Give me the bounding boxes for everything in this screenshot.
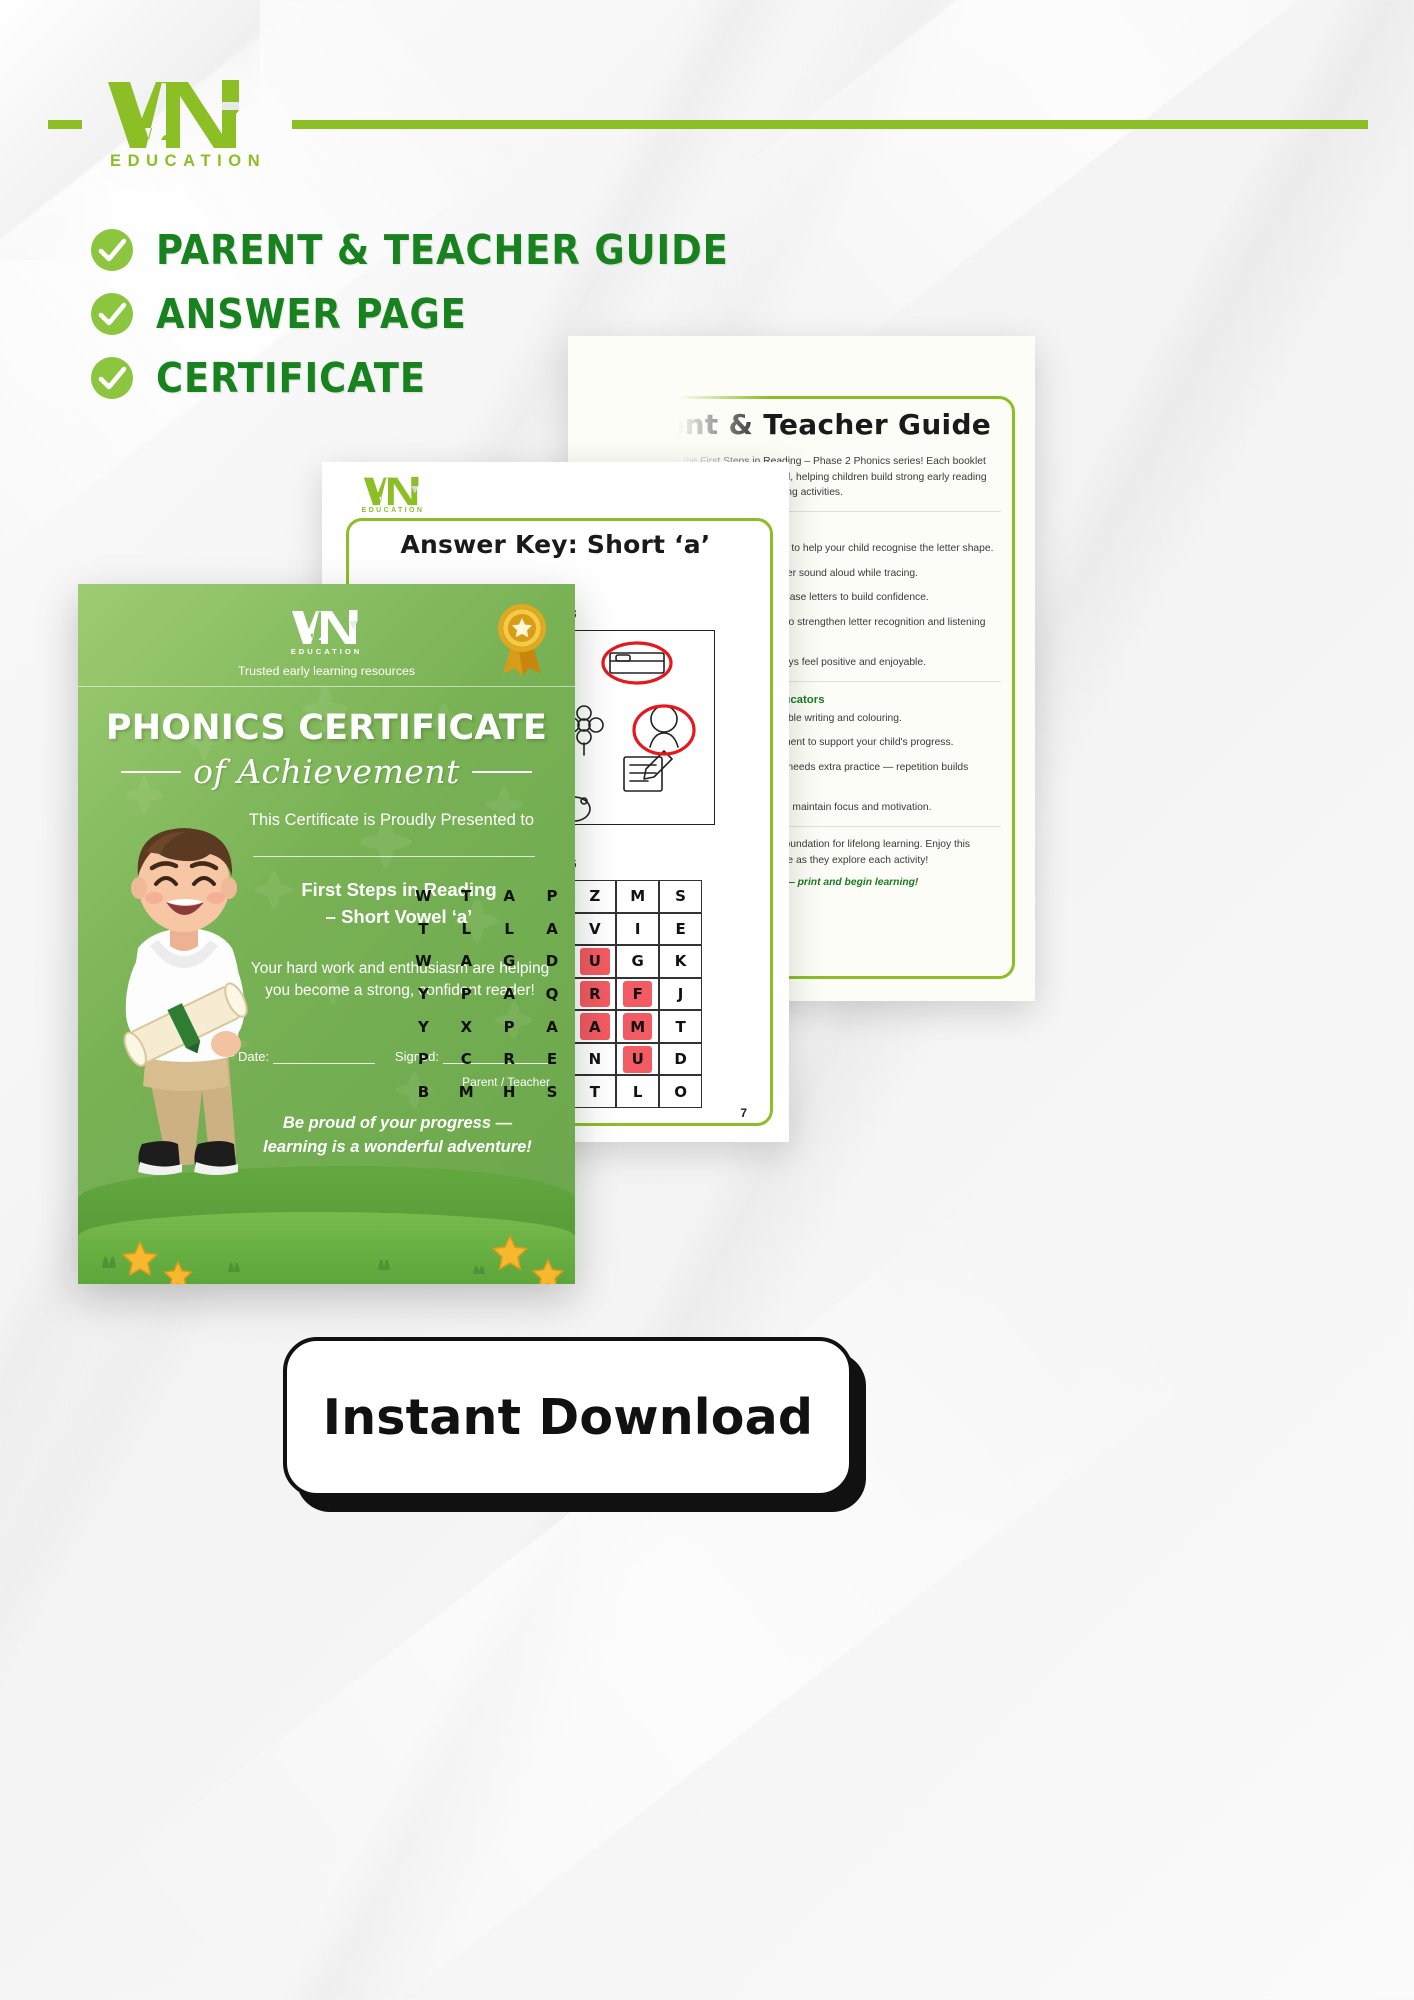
vn-monogram-icon <box>104 78 252 150</box>
wordsearch-cell: J <box>659 978 702 1011</box>
wordsearch-cell: S <box>659 880 702 913</box>
certificate-subtitle-row: of Achievement <box>78 752 575 791</box>
wordsearch-cell: R <box>573 978 616 1011</box>
feature-label: CERTIFICATE <box>156 358 426 399</box>
wordsearch-cell: T <box>659 1010 702 1043</box>
answer-circle <box>603 643 671 683</box>
brand-logo: EDUCATION <box>104 78 266 171</box>
course-line-2: – Short Vowel ‘a’ <box>326 906 473 927</box>
subtitle-dash-right <box>472 771 532 773</box>
vn-monogram-icon <box>290 608 364 646</box>
wordsearch-cell: O <box>659 1075 702 1108</box>
wordsearch-cell: U <box>616 1043 659 1076</box>
footer-line-2: learning is a wonderful adventure! <box>263 1138 532 1156</box>
feature-label: ANSWER PAGE <box>156 294 467 335</box>
wordsearch-cell: K <box>659 945 702 978</box>
instant-download-label: Instant Download <box>323 1389 813 1446</box>
logo-rule-right <box>292 120 1368 129</box>
brand-wordmark: EDUCATION <box>104 152 266 171</box>
logo-rule-left <box>48 120 82 129</box>
feature-item: PARENT & TEACHER GUIDE <box>90 228 792 272</box>
wordsearch-cell: E <box>659 913 702 946</box>
feature-label: PARENT & TEACHER GUIDE <box>156 230 729 271</box>
wordsearch-cell: M <box>616 1010 659 1043</box>
notebook-icon <box>624 751 672 791</box>
check-circle-icon <box>90 228 134 272</box>
wordsearch-cell: G <box>616 945 659 978</box>
wordsearch-cell: D <box>659 1043 702 1076</box>
answer-logo-word: EDUCATION <box>350 507 436 514</box>
certificate-divider <box>78 686 575 687</box>
wordsearch-cell: F <box>616 978 659 1011</box>
answer-page-number: 7 <box>740 1106 747 1120</box>
certificate-subtitle: of Achievement <box>193 752 460 791</box>
wordsearch-cell: M <box>616 880 659 913</box>
certificate-title: PHONICS CERTIFICATE <box>78 708 575 748</box>
wordsearch-cell: I <box>616 913 659 946</box>
footer-line-1: Be proud of your progress — <box>283 1114 512 1132</box>
wordsearch-cell: U <box>573 945 616 978</box>
date-line <box>273 1051 375 1064</box>
wordsearch-cell: N <box>573 1043 616 1076</box>
phonics-certificate[interactable]: EDUCATION Trusted early learning resourc… <box>78 584 575 1284</box>
wordsearch-cell: V <box>573 913 616 946</box>
wordsearch-cell: T <box>573 1075 616 1108</box>
wordsearch-cell: A <box>573 1010 616 1043</box>
answer-circle <box>634 706 694 754</box>
signed-line <box>443 1051 553 1064</box>
wordsearch-cell: L <box>616 1075 659 1108</box>
check-circle-icon <box>90 292 134 336</box>
bed-icon <box>610 653 664 673</box>
vn-monogram-icon <box>362 476 424 506</box>
check-circle-icon <box>90 356 134 400</box>
brand-header: EDUCATION <box>48 78 1368 171</box>
certificate-tagline: Trusted early learning resources <box>78 664 575 678</box>
wordsearch-cell: Z <box>573 880 616 913</box>
man-icon <box>650 706 678 747</box>
boy-illustration <box>86 800 282 1230</box>
answer-logo: EDUCATION <box>350 476 436 514</box>
certificate-name-line <box>253 856 535 857</box>
instant-download-button[interactable]: Instant Download <box>283 1337 853 1497</box>
certificate-footer: Be proud of your progress — learning is … <box>238 1112 557 1160</box>
certificate-header: EDUCATION Trusted early learning resourc… <box>78 608 575 678</box>
answer-key-title: Answer Key: Short ‘a’ <box>322 530 789 559</box>
subtitle-dash-left <box>121 771 181 773</box>
feature-item: ANSWER PAGE <box>90 292 792 336</box>
certificate-logo-word: EDUCATION <box>78 647 575 656</box>
